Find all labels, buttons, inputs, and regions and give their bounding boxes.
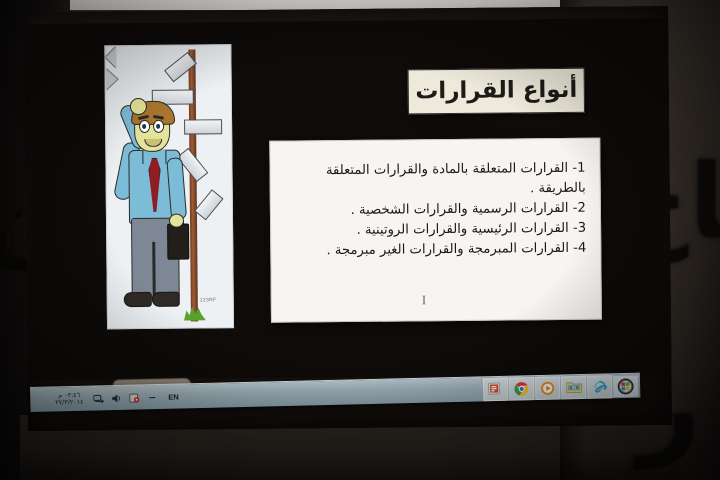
powerpoint-taskbar-button[interactable] [483,377,509,401]
antivirus-icon[interactable] [128,391,140,403]
start-orb-button[interactable] [613,375,638,397]
show-hidden-icons-icon[interactable] [146,391,158,403]
briefcase-icon [167,224,189,260]
arrow-right-head-icon [106,68,118,90]
bullet-list: 1- القرارات المتعلقة بالمادة والقرارات ا… [284,159,586,262]
arrow-left-upper-head-icon [105,46,116,68]
man-pupil-left [142,124,146,129]
volume-icon[interactable] [110,392,122,404]
clipart-watermark-text: 123RF [200,297,217,303]
arrow-right-icon [184,119,222,134]
list-item: 1- القرارات المتعلقة بالمادة والقرارات ا… [284,159,585,202]
taskbar-clock[interactable]: ٠٣:٤٦ م ٢٧/٣/٢٠١٤ [52,391,86,407]
man-leg-split [152,242,156,296]
system-tray[interactable]: ٠٣:٤٦ م ٢٧/٣/٢٠١٤ EN [30,389,179,407]
network-icon[interactable] [92,392,104,404]
internet-explorer-taskbar-button[interactable] [587,375,613,399]
list-item: 4- القرارات المبرمجة والقرارات الغير مبر… [285,239,586,262]
room-background: نجاح ر ن ● [0,0,720,480]
chrome-taskbar-button[interactable] [509,377,535,401]
man-shoe-right [152,292,180,307]
clipart-image: ● [104,44,234,329]
man-hand-on-head [130,98,147,115]
page-title: أنواع القرارات [415,79,577,104]
media-player-taskbar-button[interactable] [535,376,561,400]
man-shoe-left [124,292,152,307]
text-caret: I [422,292,426,308]
clock-date: ٢٧/٣/٢٠١٤ [52,399,86,407]
man-hand-lower [169,214,184,228]
slide-body-box[interactable]: 1- القرارات المتعلقة بالمادة والقرارات ا… [269,138,602,323]
powerpoint-slide[interactable]: ● [24,18,671,380]
man-pupil-right [156,124,160,129]
explorer-taskbar-button[interactable] [561,375,587,399]
projection-screen: ● [24,6,672,431]
language-indicator[interactable]: EN [164,392,179,401]
taskbar-app-buttons[interactable] [483,374,640,401]
slide-title-box[interactable]: أنواع القرارات [408,68,585,115]
